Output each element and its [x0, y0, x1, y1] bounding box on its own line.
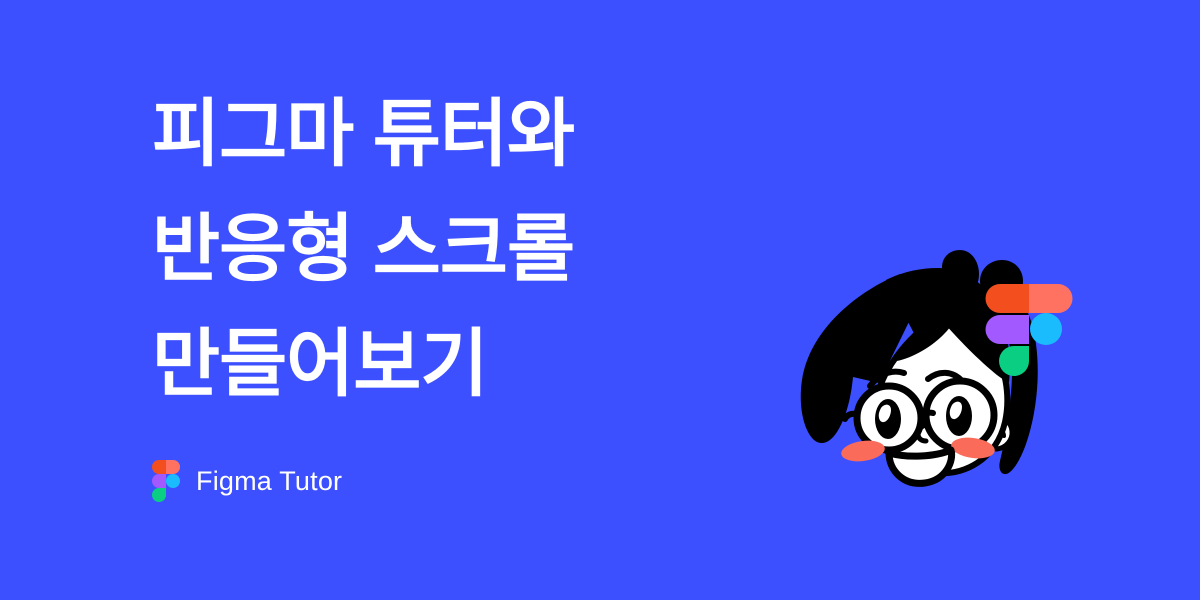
figma-logo-icon [152, 460, 180, 502]
brand-name-label: Figma Tutor [196, 468, 342, 495]
mouth-icon [889, 450, 952, 483]
headline-line-1: 피그마 튜터와 [152, 76, 772, 191]
headline-line-2: 반응형 스크롤 [152, 191, 772, 306]
girl-avatar-illustration [788, 246, 1088, 510]
brand-lockup: Figma Tutor [152, 460, 342, 502]
banner-canvas: 피그마 튜터와 반응형 스크롤 만들어보기 Figma Tutor [0, 0, 1200, 600]
headline-line-3: 만들어보기 [152, 306, 772, 421]
headline-block: 피그마 튜터와 반응형 스크롤 만들어보기 [152, 76, 772, 421]
